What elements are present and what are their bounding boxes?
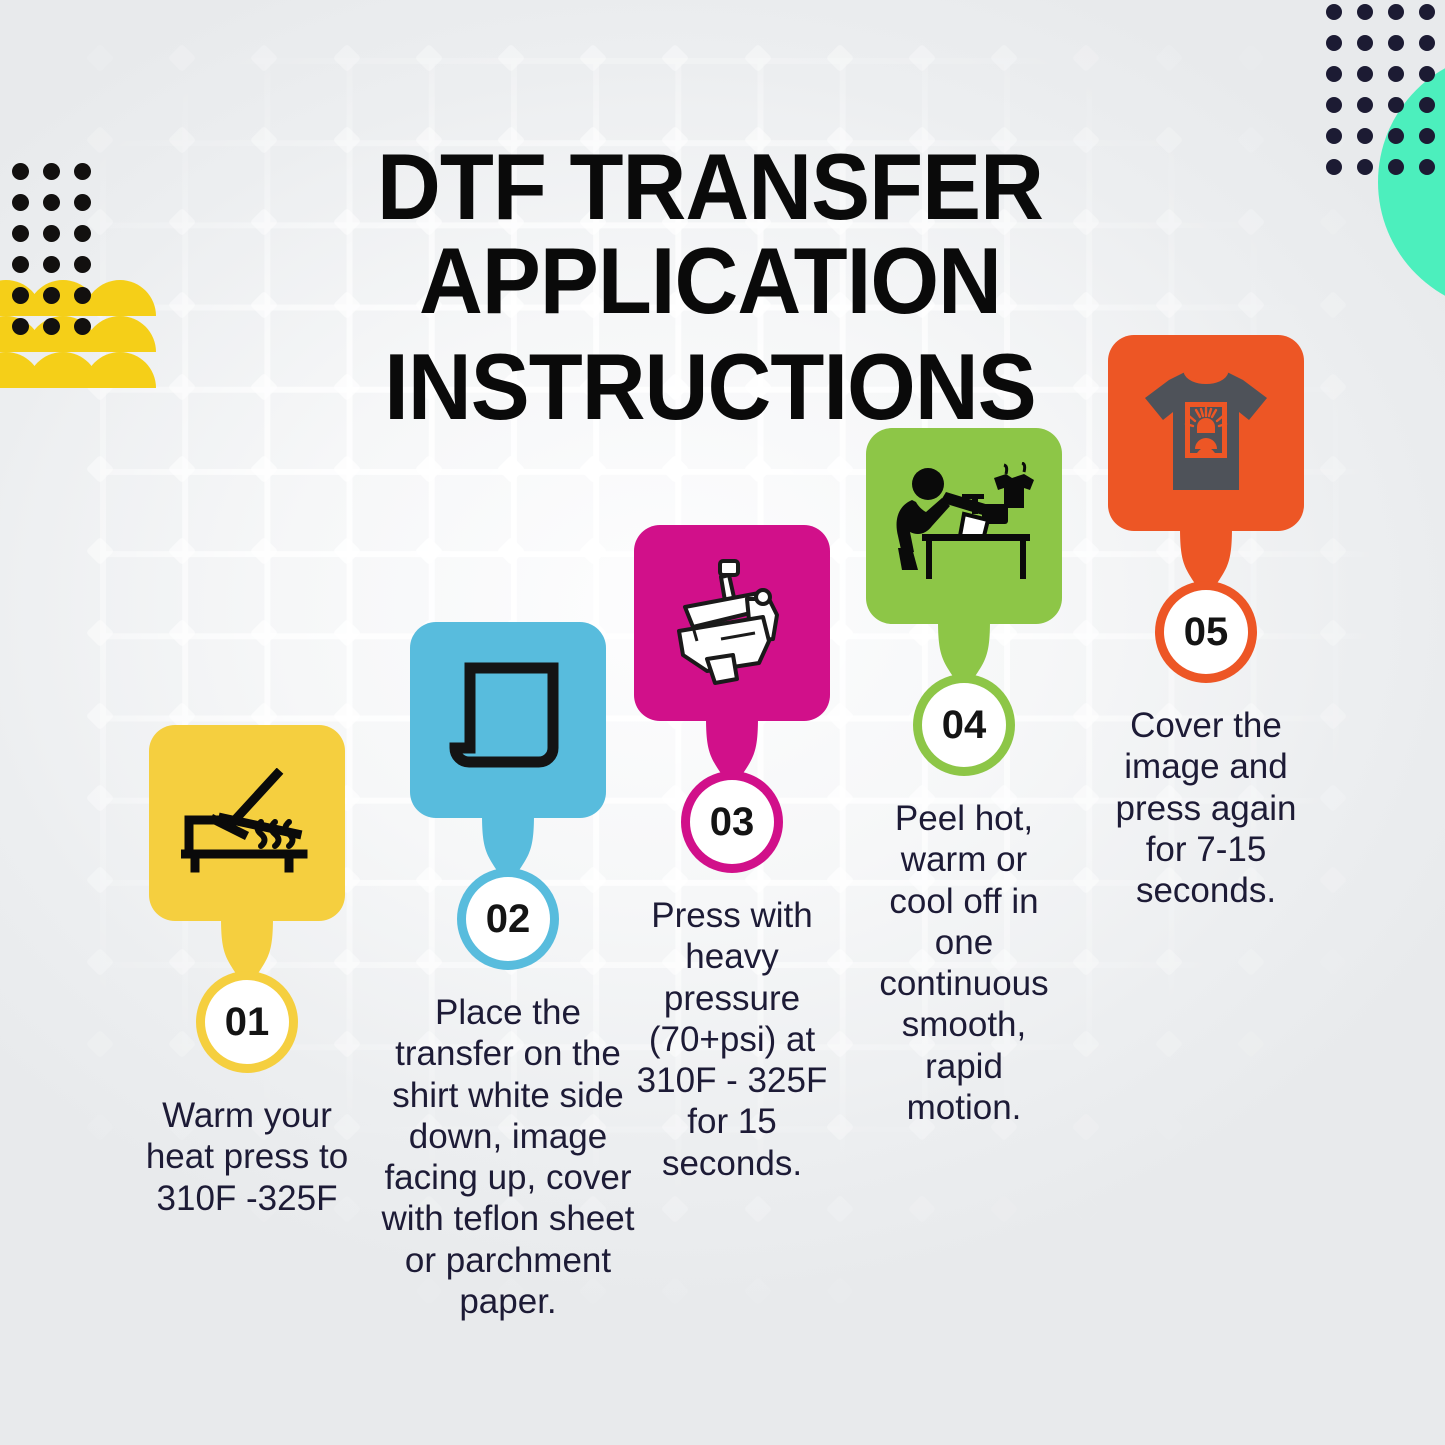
- decorative-dot: [1388, 97, 1404, 113]
- dot-grid-left: [12, 163, 105, 349]
- decorative-dot: [74, 225, 91, 242]
- grid-diamond: [497, 537, 525, 565]
- decorative-dot: [1419, 128, 1435, 144]
- decorative-dot: [1419, 97, 1435, 113]
- grid-diamond: [743, 1277, 771, 1305]
- grid-diamond: [908, 44, 936, 72]
- grid-diamond: [1072, 619, 1100, 647]
- step-04: 04 Peel hot, warm or cool off in one con…: [866, 428, 1062, 1128]
- grid-diamond: [1072, 948, 1100, 976]
- decorative-dot: [1326, 97, 1342, 113]
- decorative-dot: [1357, 35, 1373, 51]
- step-04-number-badge: 04: [913, 674, 1015, 776]
- decorative-dot: [43, 163, 60, 180]
- decorative-dot: [1388, 159, 1404, 175]
- grid-diamond: [990, 44, 1018, 72]
- grid-diamond: [826, 44, 854, 72]
- decorative-dot: [12, 225, 29, 242]
- grid-diamond: [1072, 784, 1100, 812]
- grid-diamond: [86, 44, 114, 72]
- grid-diamond: [332, 537, 360, 565]
- half-dome: [84, 352, 156, 388]
- grid-diamond: [1072, 455, 1100, 483]
- grid-diamond: [415, 44, 443, 72]
- step-03-number-badge: 03: [681, 771, 783, 873]
- heat-press-open-icon: [181, 768, 313, 878]
- grid-diamond: [1319, 373, 1347, 401]
- grid-diamond: [579, 44, 607, 72]
- grid-diamond: [86, 701, 114, 729]
- decorative-dot: [74, 287, 91, 304]
- step-05-caption: Cover the image and press again for 7-15…: [1108, 705, 1304, 911]
- decorative-dot: [1388, 66, 1404, 82]
- grid-diamond: [86, 126, 114, 154]
- grid-diamond: [661, 44, 689, 72]
- step-01-icon-tile: [149, 725, 345, 921]
- grid-diamond: [86, 1030, 114, 1058]
- decorative-dot: [1419, 35, 1435, 51]
- step-03-caption: Press with heavy pressure (70+psi) at 31…: [622, 895, 842, 1184]
- grid-diamond: [1319, 290, 1347, 318]
- grid-diamond: [1237, 1112, 1265, 1140]
- grid-diamond: [86, 619, 114, 647]
- grid-diamond: [332, 1277, 360, 1305]
- decorative-dot: [1357, 97, 1373, 113]
- grid-diamond: [1319, 948, 1347, 976]
- decorative-dot: [12, 194, 29, 211]
- step-05-number: 05: [1184, 610, 1229, 655]
- decorative-dot: [1326, 159, 1342, 175]
- decorative-dot: [1326, 35, 1342, 51]
- grid-diamond: [415, 537, 443, 565]
- step-04-caption: Peel hot, warm or cool off in one contin…: [866, 798, 1062, 1128]
- grid-diamond: [1072, 1195, 1100, 1223]
- grid-diamond: [332, 44, 360, 72]
- decorative-dot: [43, 256, 60, 273]
- title-line-2: INSTRUCTIONS: [155, 340, 1264, 434]
- infographic-canvas: DTF TRANSFER APPLICATION INSTRUCTIONS: [0, 0, 1445, 1445]
- grid-diamond: [1072, 537, 1100, 565]
- step-04-number: 04: [942, 703, 987, 748]
- page-title: DTF TRANSFER APPLICATION INSTRUCTIONS: [155, 140, 1264, 434]
- decorative-dot: [1419, 159, 1435, 175]
- step-01-number: 01: [225, 1000, 270, 1045]
- decorative-dot: [1419, 66, 1435, 82]
- grid-diamond: [1237, 1030, 1265, 1058]
- decorative-dot: [1326, 66, 1342, 82]
- decorative-dot: [43, 225, 60, 242]
- grid-diamond: [1072, 1112, 1100, 1140]
- decorative-dot: [74, 194, 91, 211]
- grid-diamond: [990, 1195, 1018, 1223]
- step-02-number-badge: 02: [457, 868, 559, 970]
- step-02: 02 Place the transfer on the shirt white…: [379, 622, 637, 1322]
- grid-diamond: [86, 537, 114, 565]
- step-05-number-badge: 05: [1155, 581, 1257, 683]
- grid-diamond: [1072, 701, 1100, 729]
- grid-diamond: [250, 44, 278, 72]
- heat-press-machine-icon: [663, 555, 801, 691]
- grid-diamond: [250, 455, 278, 483]
- step-03: 03 Press with heavy pressure (70+psi) at…: [622, 525, 842, 1184]
- grid-diamond: [743, 455, 771, 483]
- grid-diamond: [743, 1195, 771, 1223]
- grid-diamond: [661, 455, 689, 483]
- grid-diamond: [579, 455, 607, 483]
- decorative-dot: [1357, 159, 1373, 175]
- grid-diamond: [826, 1277, 854, 1305]
- transfer-sheet-icon: [449, 662, 567, 778]
- step-02-icon-tile: [410, 622, 606, 818]
- grid-diamond: [661, 1195, 689, 1223]
- decorative-dot: [1388, 35, 1404, 51]
- step-01: 01 Warm your heat press to 310F -325F: [132, 725, 362, 1219]
- grid-diamond: [1072, 1030, 1100, 1058]
- grid-diamond: [1319, 455, 1347, 483]
- decorative-dot: [1357, 66, 1373, 82]
- grid-diamond: [1319, 208, 1347, 236]
- decorative-dot: [43, 194, 60, 211]
- printed-tshirt-icon: [1139, 366, 1273, 500]
- grid-diamond: [1072, 866, 1100, 894]
- decorative-dot: [1326, 4, 1342, 20]
- grid-diamond: [1319, 866, 1347, 894]
- decorative-dot: [74, 256, 91, 273]
- grid-diamond: [415, 455, 443, 483]
- step-05: 05 Cover the image and press again for 7…: [1108, 335, 1304, 911]
- decorative-dot: [1388, 4, 1404, 20]
- title-line-1: DTF TRANSFER APPLICATION: [377, 134, 1043, 333]
- step-02-caption: Place the transfer on the shirt white si…: [379, 992, 637, 1322]
- dot-grid-top-right: [1326, 4, 1445, 190]
- grid-diamond: [168, 44, 196, 72]
- grid-diamond: [661, 1277, 689, 1305]
- grid-diamond: [332, 455, 360, 483]
- grid-diamond: [1237, 44, 1265, 72]
- decorative-dot: [43, 287, 60, 304]
- decorative-dot: [12, 287, 29, 304]
- grid-diamond: [86, 455, 114, 483]
- grid-diamond: [908, 1195, 936, 1223]
- grid-diamond: [1319, 537, 1347, 565]
- grid-diamond: [1319, 1030, 1347, 1058]
- step-03-icon-tile: [634, 525, 830, 721]
- grid-diamond: [497, 44, 525, 72]
- decorative-dot: [12, 163, 29, 180]
- grid-diamond: [332, 619, 360, 647]
- grid-diamond: [86, 866, 114, 894]
- grid-diamond: [1319, 619, 1347, 647]
- step-05-icon-tile: [1108, 335, 1304, 531]
- grid-diamond: [1154, 948, 1182, 976]
- decorative-dot: [1326, 128, 1342, 144]
- grid-diamond: [826, 455, 854, 483]
- grid-diamond: [497, 455, 525, 483]
- decorative-dot: [12, 318, 29, 335]
- grid-diamond: [168, 619, 196, 647]
- step-03-number: 03: [710, 800, 755, 845]
- grid-diamond: [86, 784, 114, 812]
- grid-diamond: [1072, 44, 1100, 72]
- grid-diamond: [250, 537, 278, 565]
- step-02-number: 02: [486, 897, 531, 942]
- decorative-dot: [1357, 128, 1373, 144]
- decorative-dot: [12, 256, 29, 273]
- grid-diamond: [250, 619, 278, 647]
- step-01-number-badge: 01: [196, 971, 298, 1073]
- decorative-dot: [74, 318, 91, 335]
- grid-diamond: [1319, 784, 1347, 812]
- decorative-dot: [1357, 4, 1373, 20]
- grid-diamond: [579, 537, 607, 565]
- step-01-caption: Warm your heat press to 310F -325F: [132, 1095, 362, 1219]
- grid-diamond: [1154, 44, 1182, 72]
- grid-diamond: [86, 1112, 114, 1140]
- decorative-dot: [74, 163, 91, 180]
- grid-diamond: [1154, 1112, 1182, 1140]
- decorative-dot: [1388, 128, 1404, 144]
- grid-diamond: [908, 1277, 936, 1305]
- decorative-dot: [43, 318, 60, 335]
- grid-diamond: [168, 537, 196, 565]
- grid-diamond: [86, 948, 114, 976]
- grid-diamond: [1154, 1030, 1182, 1058]
- decorative-dot: [1419, 4, 1435, 20]
- peel-transfer-person-icon: [888, 462, 1040, 590]
- grid-diamond: [743, 44, 771, 72]
- grid-diamond: [1237, 948, 1265, 976]
- grid-diamond: [826, 1195, 854, 1223]
- grid-diamond: [168, 455, 196, 483]
- step-04-icon-tile: [866, 428, 1062, 624]
- grid-diamond: [1319, 701, 1347, 729]
